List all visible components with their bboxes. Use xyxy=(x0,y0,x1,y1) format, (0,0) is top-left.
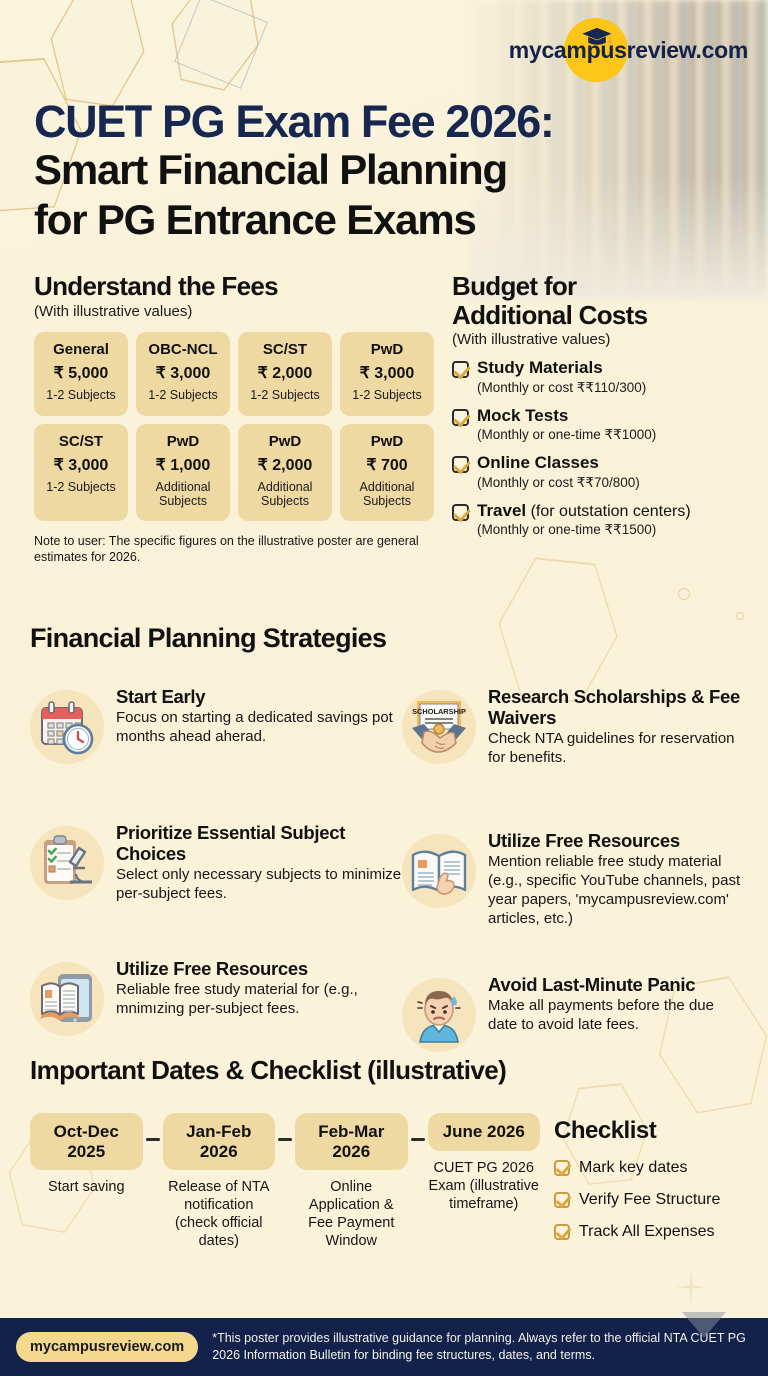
budget-item-sub: (Monthly or one-time ₹₹1000) xyxy=(477,427,656,443)
checklist-item[interactable]: Track All Expenses xyxy=(554,1223,754,1241)
checkbox-checked-icon[interactable] xyxy=(452,409,469,426)
checklist-heading: Checklist xyxy=(554,1117,754,1145)
budget-item-sub: (Monthly or one-time ₹₹1500) xyxy=(477,522,691,538)
footer-bar: mycampusreview.com *This poster provides… xyxy=(0,1318,768,1376)
strategy-desc: Mention reliable free study material (e.… xyxy=(488,853,742,929)
strategy-desc: Reliable free study material for (e.g., … xyxy=(116,981,402,1019)
budget-item[interactable]: Study Materials (Monthly or cost ₹₹110/3… xyxy=(452,358,752,396)
strategy-item: SCHOLARSHIP Research Scholarships & Fee … xyxy=(402,672,742,802)
fee-category: PwD xyxy=(344,342,430,359)
headline-line-3: for PG Entrance Exams xyxy=(34,195,694,245)
checklist-label: Track All Expenses xyxy=(579,1223,714,1241)
fee-note: 1-2 Subjects xyxy=(344,388,430,402)
footer-disclaimer: *This poster provides illustrative guida… xyxy=(212,1330,752,1364)
fee-card: PwD ₹ 2,000 Additional Subjects xyxy=(238,424,332,521)
open-book-hand-icon xyxy=(402,834,476,908)
fee-category: PwD xyxy=(344,434,430,451)
timeline-period: Jan-Feb 2026 xyxy=(163,1113,276,1170)
fee-note: Additional Subjects xyxy=(140,480,226,509)
worried-person-icon xyxy=(402,978,476,1052)
budget-item[interactable]: Travel (for outstation centers) (Monthly… xyxy=(452,501,752,539)
timeline-period: Feb-Mar 2026 xyxy=(295,1113,408,1170)
checklist-section: Checklist Mark key dates Verify Fee Stru… xyxy=(554,1117,754,1241)
strategy-title: Research Scholarships & Fee Waivers xyxy=(488,686,742,728)
fee-amount: ₹ 3,000 xyxy=(38,455,124,475)
strategies-right-column: SCHOLARSHIP Research Scholarships & Fee … xyxy=(402,672,742,1104)
fee-amount: ₹ 2,000 xyxy=(242,455,328,475)
timeline-step: Feb-Mar 2026 Online Application & Fee Pa… xyxy=(295,1113,408,1251)
fees-disclaimer-note: Note to user: The specific figures on th… xyxy=(34,533,424,566)
svg-text:SCHOLARSHIP: SCHOLARSHIP xyxy=(412,707,466,716)
checklist-label: Verify Fee Structure xyxy=(579,1191,720,1209)
timeline-desc: Start saving xyxy=(30,1178,143,1196)
headline-line-1: CUET PG Exam Fee 2026: xyxy=(34,98,694,145)
fee-note: Additional Subjects xyxy=(242,480,328,509)
timeline-period: June 2026 xyxy=(428,1113,541,1151)
strategy-title: Avoid Last-Minute Panic xyxy=(488,974,742,995)
fee-note: 1-2 Subjects xyxy=(242,388,328,402)
fee-amount: ₹ 700 xyxy=(344,455,430,475)
fee-note: 1-2 Subjects xyxy=(140,388,226,402)
decorative-sparkle xyxy=(674,1270,708,1304)
timeline-connector xyxy=(278,1138,292,1141)
checkbox-checked-icon[interactable] xyxy=(452,361,469,378)
timeline-desc: CUET PG 2026 Exam (illustrative timefram… xyxy=(428,1159,541,1213)
checkbox-checked-icon[interactable] xyxy=(554,1192,570,1208)
strategy-desc: Make all payments before the due date to… xyxy=(488,997,742,1035)
fee-category: General xyxy=(38,342,124,359)
strategy-item: Start Early Focus on starting a dedicate… xyxy=(30,672,402,794)
timeline-step: Oct-Dec 2025 Start saving xyxy=(30,1113,143,1196)
timeline: Oct-Dec 2025 Start saving Jan-Feb 2026 R… xyxy=(30,1113,540,1251)
strategy-desc: Check NTA guidelines for reservation for… xyxy=(488,730,742,768)
strategy-item: Prioritize Essential Subject Choices Sel… xyxy=(30,808,402,930)
budget-item[interactable]: Online Classes (Monthly or cost ₹₹70/800… xyxy=(452,453,752,491)
timeline-desc: Online Application & Fee Payment Window xyxy=(295,1178,408,1251)
budget-heading-line-2: Additional Costs xyxy=(452,301,752,330)
fee-amount: ₹ 1,000 xyxy=(140,455,226,475)
calendar-clock-icon xyxy=(30,690,104,764)
budget-item-title: Study Materials xyxy=(477,358,603,377)
timeline-step: June 2026 CUET PG 2026 Exam (illustrativ… xyxy=(428,1113,541,1213)
decorative-triangle xyxy=(682,1312,726,1338)
checklist-label: Mark key dates xyxy=(579,1159,687,1177)
decorative-circle xyxy=(678,588,690,600)
footer-brand-badge[interactable]: mycampusreview.com xyxy=(16,1332,198,1362)
brand-logo[interactable]: mycampusreview.com xyxy=(509,18,748,82)
budget-heading-line-1: Budget for xyxy=(452,272,752,301)
clipboard-microscope-icon xyxy=(30,826,104,900)
fee-card: OBC-NCL ₹ 3,000 1-2 Subjects xyxy=(136,332,230,416)
budget-item-title: Mock Tests xyxy=(477,406,568,425)
checkbox-checked-icon[interactable] xyxy=(452,456,469,473)
fees-heading: Understand the Fees xyxy=(34,272,434,301)
budget-item-title: Travel xyxy=(477,501,526,520)
budget-section: Budget for Additional Costs (With illust… xyxy=(452,272,752,549)
fee-amount: ₹ 3,000 xyxy=(344,363,430,383)
fee-amount: ₹ 2,000 xyxy=(242,363,328,383)
checkbox-checked-icon[interactable] xyxy=(452,504,469,521)
strategy-desc: Focus on starting a dedicated savings po… xyxy=(116,709,402,747)
fee-note: 1-2 Subjects xyxy=(38,388,124,402)
fee-card-grid: General ₹ 5,000 1-2 Subjects OBC-NCL ₹ 3… xyxy=(34,332,434,521)
budget-item-list: Study Materials (Monthly or cost ₹₹110/3… xyxy=(452,358,752,538)
decorative-hexagon xyxy=(159,0,272,96)
checkbox-checked-icon[interactable] xyxy=(554,1224,570,1240)
budget-item-suffix: (for outstation centers) xyxy=(526,503,691,520)
fee-amount: ₹ 3,000 xyxy=(140,363,226,383)
fee-card: PwD ₹ 1,000 Additional Subjects xyxy=(136,424,230,521)
decorative-hexagon xyxy=(42,0,152,110)
fees-subheading: (With illustrative values) xyxy=(34,303,434,320)
strategies-heading: Financial Planning Strategies xyxy=(30,623,386,654)
dates-heading: Important Dates & Checklist (illustrativ… xyxy=(30,1055,506,1086)
budget-item-title: Online Classes xyxy=(477,453,599,472)
fee-category: PwD xyxy=(140,434,226,451)
scholarship-handshake-icon: SCHOLARSHIP xyxy=(402,690,476,764)
decorative-square xyxy=(174,0,268,89)
fee-category: SC/ST xyxy=(38,434,124,451)
fee-category: PwD xyxy=(242,434,328,451)
timeline-desc: Release of NTA notification (check offic… xyxy=(163,1178,276,1251)
book-tablet-icon xyxy=(30,962,104,1036)
budget-subheading: (With illustrative values) xyxy=(452,331,752,348)
fee-amount: ₹ 5,000 xyxy=(38,363,124,383)
fee-card: PwD ₹ 3,000 1-2 Subjects xyxy=(340,332,434,416)
fee-card: General ₹ 5,000 1-2 Subjects xyxy=(34,332,128,416)
strategy-title: Utilize Free Resources xyxy=(116,958,402,979)
decorative-circle xyxy=(736,612,744,620)
strategy-desc: Select only necessary subjects to minimi… xyxy=(116,866,402,904)
fee-card: SC/ST ₹ 3,000 1-2 Subjects xyxy=(34,424,128,521)
strategies-left-column: Start Early Focus on starting a dedicate… xyxy=(30,672,402,1104)
graduation-cap-icon xyxy=(579,25,615,47)
timeline-connector xyxy=(146,1138,160,1141)
timeline-period: Oct-Dec 2025 xyxy=(30,1113,143,1170)
budget-item-sub: (Monthly or cost ₹₹110/300) xyxy=(477,380,646,396)
checklist-item[interactable]: Mark key dates xyxy=(554,1159,754,1177)
fee-card: SC/ST ₹ 2,000 1-2 Subjects xyxy=(238,332,332,416)
fee-note: 1-2 Subjects xyxy=(38,480,124,494)
strategy-item: Utilize Free Resources Mention reliable … xyxy=(402,816,742,946)
budget-item-sub: (Monthly or cost ₹₹70/800) xyxy=(477,475,640,491)
strategy-title: Utilize Free Resources xyxy=(488,830,742,851)
checklist-item[interactable]: Verify Fee Structure xyxy=(554,1191,754,1209)
infographic-poster: mycampusreview.com CUET PG Exam Fee 2026… xyxy=(0,0,768,1376)
headline-line-2: Smart Financial Planning xyxy=(34,145,694,195)
timeline-connector xyxy=(411,1138,425,1141)
fee-category: SC/ST xyxy=(242,342,328,359)
budget-item[interactable]: Mock Tests (Monthly or one-time ₹₹1000) xyxy=(452,406,752,444)
fee-note: Additional Subjects xyxy=(344,480,430,509)
fee-category: OBC-NCL xyxy=(140,342,226,359)
page-title: CUET PG Exam Fee 2026: Smart Financial P… xyxy=(34,98,694,244)
checkbox-checked-icon[interactable] xyxy=(554,1160,570,1176)
timeline-step: Jan-Feb 2026 Release of NTA notification… xyxy=(163,1113,276,1251)
strategy-item: Utilize Free Resources Reliable free stu… xyxy=(30,944,402,1066)
strategies-grid: Start Early Focus on starting a dedicate… xyxy=(30,672,742,1104)
fee-card: PwD ₹ 700 Additional Subjects xyxy=(340,424,434,521)
strategy-title: Start Early xyxy=(116,686,402,707)
fees-section: Understand the Fees (With illustrative v… xyxy=(34,272,434,566)
strategy-title: Prioritize Essential Subject Choices xyxy=(116,822,402,864)
logo-text: mycampusreview.com xyxy=(509,37,748,64)
